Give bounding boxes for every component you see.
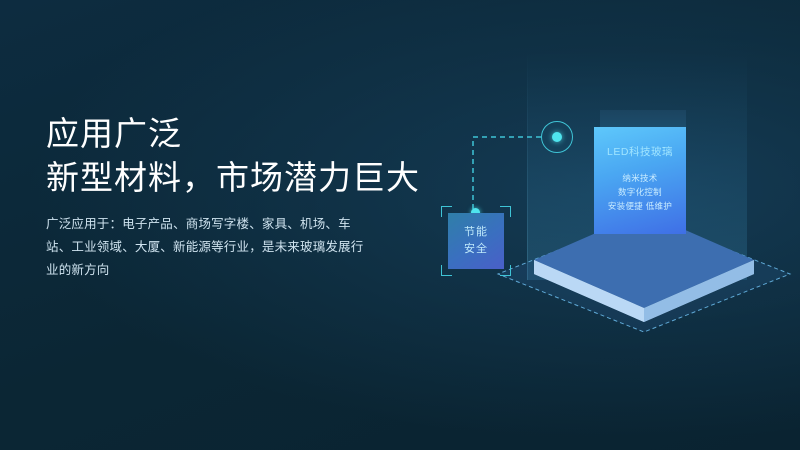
body-paragraph: 广泛应用于：电子产品、商场写字楼、家具、机场、车站、工业领域、大厦、新能源等行业… [46,213,371,282]
glass-feature-item: 数字化控制 [618,187,662,198]
glass-feature-item: 安装便捷 低维护 [608,201,672,212]
feature-card-line2: 安全 [464,242,488,257]
page-title: 应用广泛 新型材料，市场潜力巨大 [46,112,446,200]
connector-dashed-path [473,137,541,212]
text-block: 应用广泛 新型材料，市场潜力巨大 广泛应用于：电子产品、商场写字楼、家具、机场、… [46,112,446,282]
node-dot-icon [552,132,562,142]
headline-line-1: 应用广泛 [46,115,182,152]
glass-panel-features: 纳米技术 数字化控制 安装便捷 低维护 [608,173,672,212]
feature-card-line1: 节能 [464,225,488,240]
feature-card: 节能 安全 [448,213,504,269]
glass-feature-item: 纳米技术 [622,173,657,184]
headline-line-2: 新型材料，市场潜力巨大 [46,156,446,200]
slide-canvas: LED科技玻璃 纳米技术 数字化控制 安装便捷 低维护 节能 安全 应用广泛 新… [0,0,800,450]
glass-panel-title: LED科技玻璃 [607,144,673,159]
led-glass-panel: LED科技玻璃 纳米技术 数字化控制 安装便捷 低维护 [594,127,686,234]
feature-card-group: 节能 安全 [441,206,511,276]
